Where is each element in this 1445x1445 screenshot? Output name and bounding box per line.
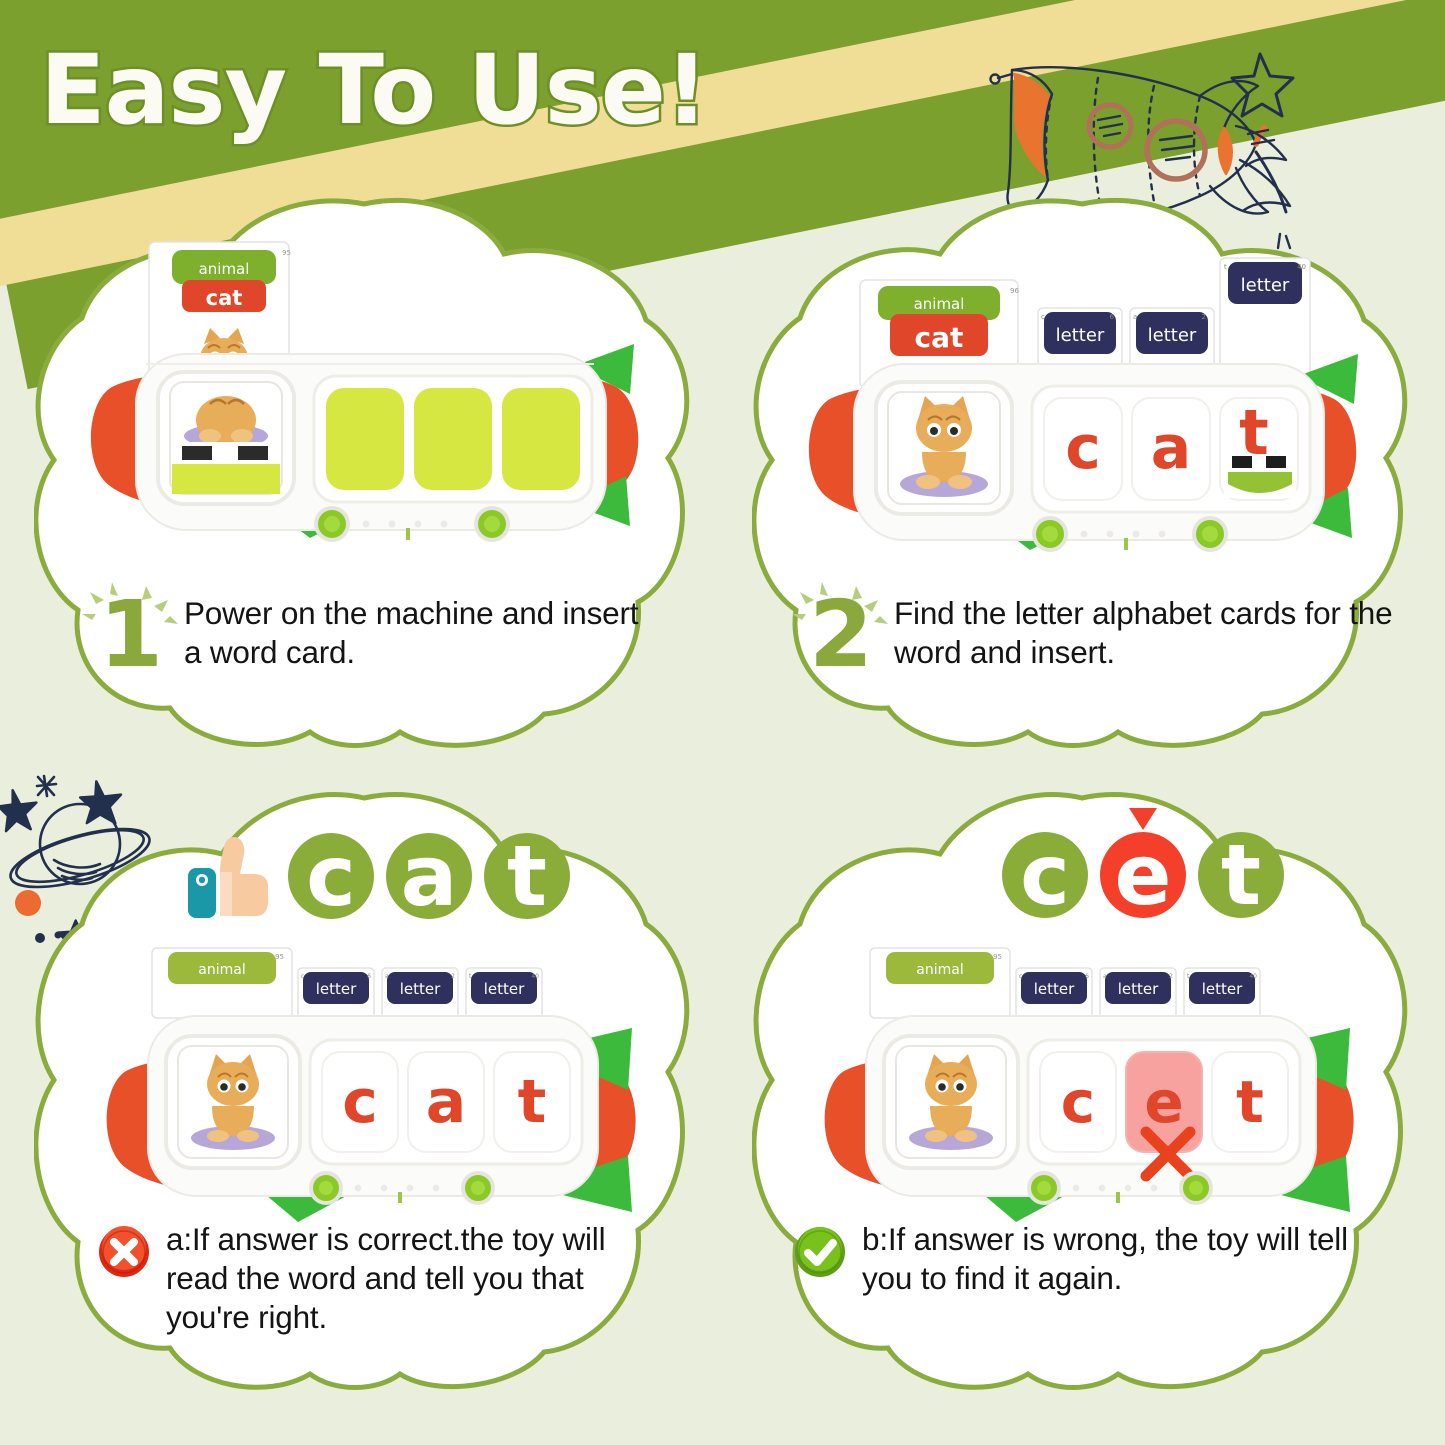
svg-text:2: 2 [1202,313,1206,321]
toy-device-step3b[interactable]: animal 95 letter c 6 letter a 2 [810,940,1370,1240]
step-number-1: 1 [92,594,170,677]
svg-text:letter: letter [1202,980,1243,998]
toy-device-step2[interactable]: animal 96 cat letter c 6 letter [792,256,1372,576]
svg-text:6: 6 [1085,973,1089,980]
thumbs-up-icon [184,830,276,922]
svg-text:letter: letter [1118,980,1159,998]
svg-text:a: a [1133,313,1137,321]
svg-text:a: a [1103,973,1107,980]
slot-letter-a: a [426,1067,467,1137]
svg-text:animal: animal [914,295,965,313]
svg-text:c: c [301,973,304,980]
svg-text:t: t [1224,263,1227,271]
step-panel-1: animal 95 cat [34,196,694,752]
svg-text:letter: letter [316,980,357,998]
svg-text:letter: letter [1034,980,1075,998]
svg-text:c: c [1019,973,1022,980]
caption-step-3a: a:If answer is correct.the toy will read… [96,1220,666,1337]
svg-text:2: 2 [451,973,455,980]
svg-text:40: 40 [531,973,539,980]
svg-text:40: 40 [1249,973,1257,980]
slot-letter-c: c [1061,1068,1095,1136]
slot-letter-c: c [342,1067,378,1137]
page-title: Easy To Use! [40,34,708,146]
slot-letter-a: a [1151,413,1192,483]
result-letter-c: c [1002,832,1088,918]
step-panel-2: animal 96 cat letter c 6 letter [752,196,1412,752]
caption-text-3b: b:If answer is wrong, the toy will tell … [862,1220,1382,1298]
sparkle-rays-icon [82,580,182,644]
word-result-correct: c a t [184,830,570,922]
result-letter-e-wrong: e [1100,832,1186,918]
word-result-wrong: c e t [1002,832,1284,918]
caption-text-3a: a:If answer is correct.the toy will read… [166,1220,666,1337]
toy-device-step1[interactable]: animal 95 cat [74,236,654,566]
caption-text-1: Power on the machine and insert a word c… [184,594,652,672]
slot-letter-t: t [1236,1068,1264,1136]
result-letter-a: a [386,833,472,919]
svg-text:40: 40 [1297,263,1306,271]
step-panel-3a: c a t animal 95 let [34,790,694,1410]
svg-text:a: a [385,973,389,980]
svg-text:letter: letter [400,980,441,998]
sparkle-rays-icon [792,580,892,644]
svg-text:animal: animal [198,962,245,978]
svg-text:96: 96 [1010,287,1019,295]
svg-text:letter: letter [1241,275,1290,296]
toy-device-step3a[interactable]: animal 95 letter c 6 letter a 2 [92,940,652,1240]
letter-slot-1 [326,388,404,490]
letter-slot-3 [502,388,580,490]
svg-text:95: 95 [275,953,284,961]
caption-text-2: Find the letter alphabet cards for the w… [894,594,1402,672]
svg-text:letter: letter [484,980,525,998]
result-letter-c: c [288,833,374,919]
svg-text:animal: animal [916,962,963,978]
down-triangle-icon [1129,808,1157,830]
caption-step-1: 1 Power on the machine and insert a word… [92,594,652,677]
step-number-2: 2 [802,594,880,677]
svg-text:6: 6 [1110,313,1115,321]
svg-text:cat: cat [915,321,964,354]
letter-slot-2 [414,388,492,490]
svg-text:2: 2 [1169,973,1173,980]
slot-letter-t: t [518,1067,547,1137]
caption-step-2: 2 Find the letter alphabet cards for the… [802,594,1402,677]
svg-text:c: c [1041,313,1045,321]
word-card: animal 95 [152,948,292,1018]
step-panel-3b: c e t animal 95 [752,790,1412,1410]
green-check-badge [792,1224,848,1280]
infographic-canvas: Easy To Use! [0,0,1445,1445]
slot-letter-e: e [1144,1068,1183,1136]
svg-text:letter: letter [1056,325,1105,346]
svg-text:cat: cat [206,286,243,310]
result-letter-t: t [484,833,570,919]
svg-text:95: 95 [282,249,291,257]
caption-step-3b: b:If answer is wrong, the toy will tell … [792,1220,1382,1298]
svg-text:letter: letter [1148,325,1197,346]
slot-letter-t: t [1239,396,1269,469]
word-card: animal 95 [870,948,1010,1018]
svg-text:animal: animal [199,260,250,278]
svg-text:95: 95 [993,953,1002,961]
svg-text:6: 6 [367,973,371,980]
result-letter-t: t [1198,832,1284,918]
red-cross-badge [96,1224,152,1280]
slot-letter-c: c [1065,413,1101,483]
